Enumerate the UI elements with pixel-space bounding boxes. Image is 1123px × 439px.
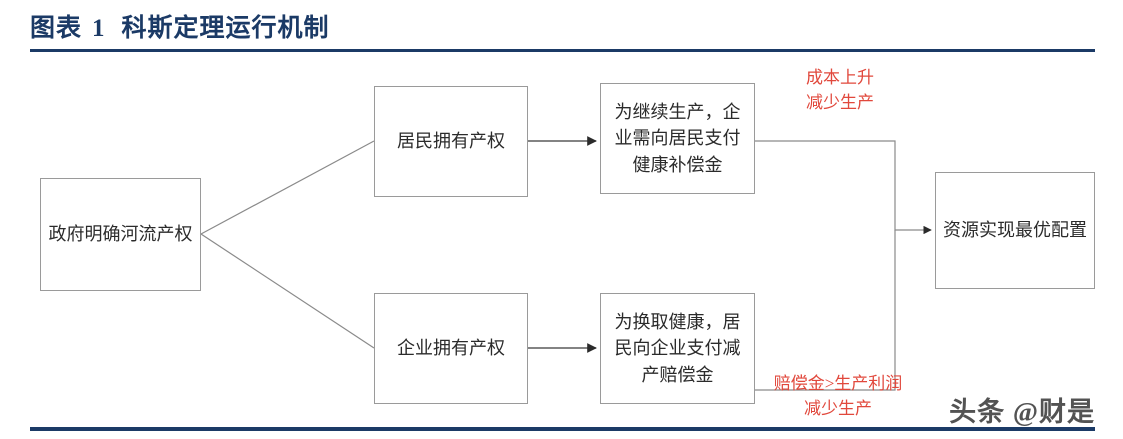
annotation-compensation-exceeds-profit: 赔偿金>生产利润 减少生产 xyxy=(748,372,928,421)
edge-pay-firm-to-optimal xyxy=(755,230,895,390)
figure-canvas: 图表1科斯定理运行机制 政府明确河流产权 居民拥有产权 为继续生产，企 业需向居… xyxy=(0,0,1123,439)
edge-gov-to-firm xyxy=(201,234,374,348)
watermark: 头条 @财是 xyxy=(949,390,1095,429)
node-government-rights[interactable]: 政府明确河流产权 xyxy=(40,178,201,291)
edge-gov-to-resident xyxy=(201,141,374,234)
node-resident-owns-rights[interactable]: 居民拥有产权 xyxy=(374,86,528,197)
node-optimal-allocation[interactable]: 资源实现最优配置 xyxy=(935,172,1095,289)
node-firm-pays-resident[interactable]: 为继续生产，企 业需向居民支付 健康补偿金 xyxy=(600,83,755,194)
node-firm-owns-rights[interactable]: 企业拥有产权 xyxy=(374,293,528,404)
annotation-cost-rises: 成本上升 减少生产 xyxy=(780,66,900,115)
node-resident-pays-firm[interactable]: 为换取健康，居 民向企业支付减 产赔偿金 xyxy=(600,293,755,404)
edge-pay-res-to-optimal xyxy=(755,141,931,230)
